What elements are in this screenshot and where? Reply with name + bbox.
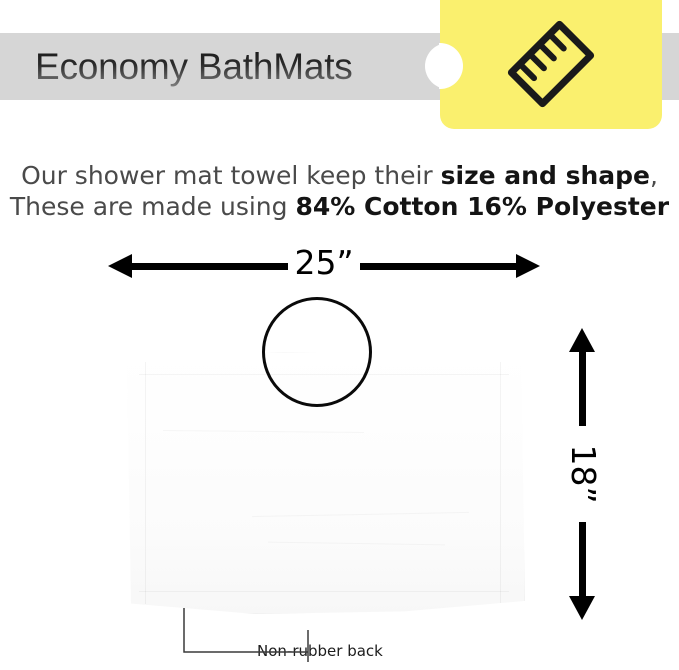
product-infographic: Economy BathMats Our shower mat towel ke…: [0, 0, 679, 670]
description-line-1-bold: size and shape: [441, 161, 650, 190]
dimension-bar-bottom: [579, 522, 586, 600]
arrow-down-icon: [569, 596, 595, 620]
towel-hem-left: [145, 362, 146, 603]
fabric-detail-callout-circle: [262, 297, 372, 407]
badge-notch: [439, 43, 463, 89]
page-title: Economy BathMats: [35, 41, 425, 93]
arrow-right-icon: [516, 254, 540, 278]
towel-hem-right: [500, 362, 501, 603]
ruler-icon: [495, 8, 607, 120]
description-line-1: Our shower mat towel keep their size and…: [0, 160, 679, 191]
towel-fold-line: [268, 542, 445, 546]
measurement-badge: [440, 0, 662, 129]
description-line-1-plain: Our shower mat towel keep their: [21, 161, 441, 190]
dimension-bar-right: [360, 263, 518, 270]
towel-hem-bottom: [139, 591, 509, 592]
height-dimension-arrow: 18”: [562, 328, 604, 620]
description-line-2-plain: These are made using: [10, 192, 296, 221]
description-line-2: These are made using 84% Cotton 16% Poly…: [0, 191, 679, 222]
description-line-1-tail: ,: [650, 161, 658, 190]
towel-fold-line: [252, 512, 469, 517]
width-dimension-arrow: 25”: [108, 248, 540, 284]
height-dimension-label: 18”: [564, 444, 602, 503]
towel-fold-line: [163, 430, 364, 433]
dimension-bar-top: [579, 348, 586, 426]
product-description: Our shower mat towel keep their size and…: [0, 160, 679, 222]
annotation-leader-line: [180, 608, 320, 662]
description-line-2-bold: 84% Cotton 16% Polyester: [295, 192, 669, 221]
